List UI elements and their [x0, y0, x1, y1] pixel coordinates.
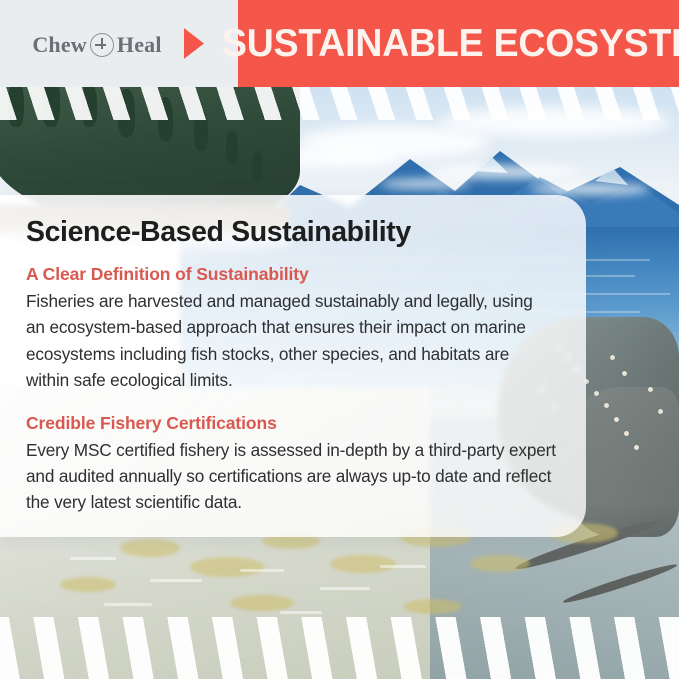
brand-logo[interactable]: Chew Heal: [22, 28, 172, 62]
stripe-band-bottom: [0, 617, 679, 679]
circled-plus-icon: [90, 33, 114, 57]
banner-title: SUSTAINABLE ECOSYSTEM: [222, 0, 654, 87]
page-title: Science-Based Sustainability: [26, 217, 556, 248]
content-card: Science-Based Sustainability A Clear Def…: [0, 195, 586, 537]
infographic-page: Chew Heal SUSTAINABLE ECOSYSTEM Science-…: [0, 0, 679, 679]
logo-word-right: Heal: [117, 32, 162, 58]
logo-word-left: Chew: [32, 32, 87, 58]
section-body-1: Fisheries are harvested and managed sust…: [26, 288, 556, 393]
stripe-band-top: [0, 87, 679, 120]
section-heading-2: Credible Fishery Certifications: [26, 413, 556, 434]
section-heading-1: A Clear Definition of Sustainability: [26, 264, 556, 285]
page-header: Chew Heal SUSTAINABLE ECOSYSTEM: [0, 0, 679, 87]
section-body-2: Every MSC certified fishery is assessed …: [26, 437, 556, 515]
